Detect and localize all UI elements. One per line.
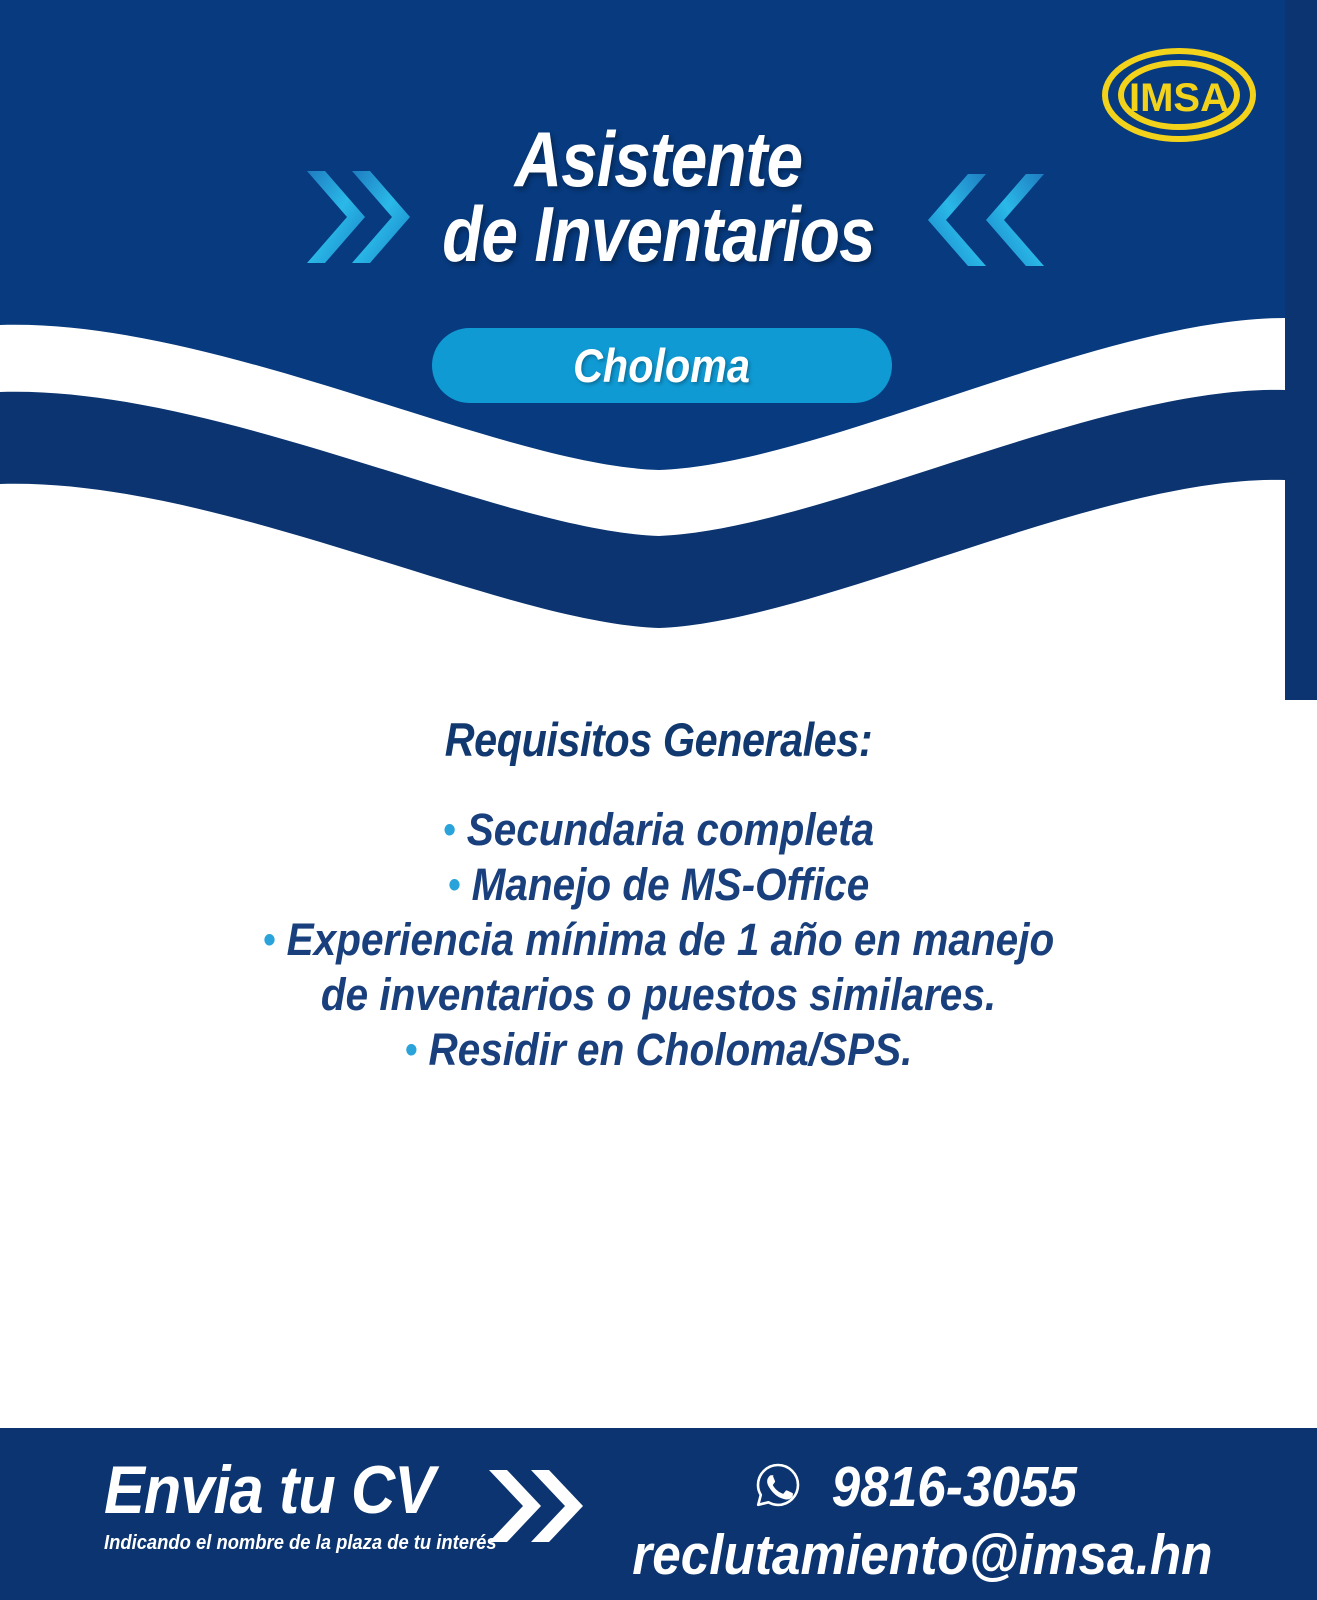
bullet-icon: • [405,1028,418,1072]
job-title: Asistente de Inventarios [0,122,1317,272]
bullet-icon: • [443,808,456,852]
job-title-line-2: de Inventarios [105,197,1211,272]
whatsapp-icon [754,1461,802,1514]
contact-info: 9816-3055 reclutamiento@imsa.hn [600,1454,1245,1588]
double-chevron-right-icon [487,1466,583,1551]
imsa-logo-text: IMSA [1129,76,1229,120]
location-badge: Choloma [432,328,892,403]
requirement-item-continued: de inventarios o puestos similares. [66,968,1251,1023]
phone-number[interactable]: 9816-3055 [832,1454,1077,1520]
requirements-heading: Requisitos Generales: [79,712,1238,767]
requirement-text: Residir en Choloma/SPS. [428,1024,912,1075]
requirement-text: Manejo de MS-Office [472,859,870,910]
requirement-text: Secundaria completa [467,804,874,855]
footer-banner: Envia tu CV Indicando el nombre de la pl… [0,1428,1317,1600]
location-badge-label: Choloma [574,338,751,393]
requirement-text: Experiencia mínima de 1 año en manejo [287,914,1055,965]
requirement-item: • Experiencia mínima de 1 año en manejo [66,913,1251,968]
whatsapp-contact-row[interactable]: 9816-3055 [600,1454,1245,1520]
bullet-icon: • [448,863,461,907]
requirements-section: Requisitos Generales: • Secundaria compl… [0,712,1317,1077]
requirement-item: • Secundaria completa [66,803,1251,858]
bullet-icon: • [263,918,276,962]
email-address[interactable]: reclutamiento@imsa.hn [633,1522,1213,1588]
requirement-item: • Manejo de MS-Office [66,858,1251,913]
requirement-text: de inventarios o puestos similares. [321,969,996,1020]
job-title-line-1: Asistente [105,122,1211,197]
requirement-item: • Residir en Choloma/SPS. [66,1023,1251,1078]
